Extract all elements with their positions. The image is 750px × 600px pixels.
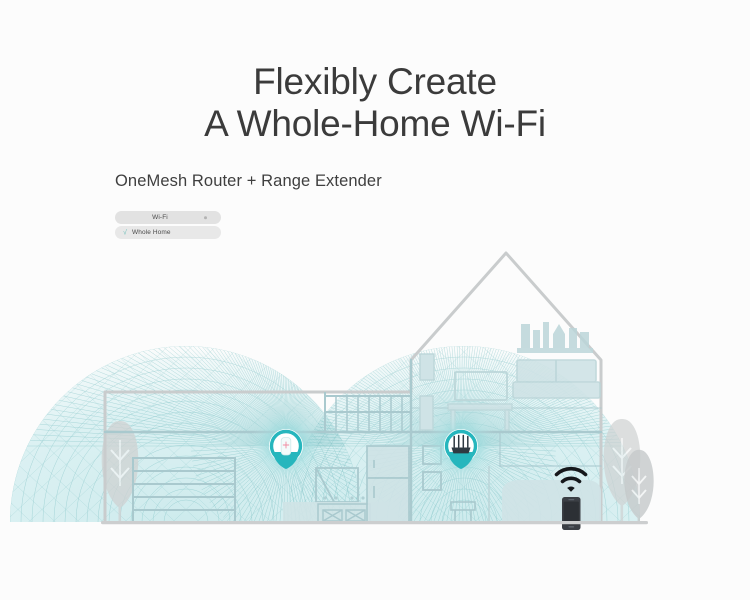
page-title: Flexibly Create A Whole-Home Wi-Fi xyxy=(0,61,750,145)
range-extender-icon xyxy=(281,438,291,456)
device-onemesh-router[interactable] xyxy=(425,410,497,482)
subtitle: OneMesh Router + Range Extender xyxy=(115,172,382,191)
page-title-line-2: A Whole-Home Wi-Fi xyxy=(0,103,750,145)
toggle-wifi-label: Wi-Fi xyxy=(152,214,168,221)
toggle-whole-home-label: Whole Home xyxy=(132,229,171,236)
phone-icon xyxy=(562,497,581,530)
device-range-extender[interactable] xyxy=(250,410,322,482)
page-root: Flexibly Create A Whole-Home Wi-Fi OneMe… xyxy=(0,0,750,600)
ground-line xyxy=(101,521,648,524)
check-icon: √ xyxy=(123,229,127,236)
status-dot-icon xyxy=(204,216,208,220)
house-coverage-illustration xyxy=(0,236,750,536)
toggle-wifi[interactable]: Wi-Fi xyxy=(115,211,221,224)
page-title-line-1: Flexibly Create xyxy=(0,61,750,103)
